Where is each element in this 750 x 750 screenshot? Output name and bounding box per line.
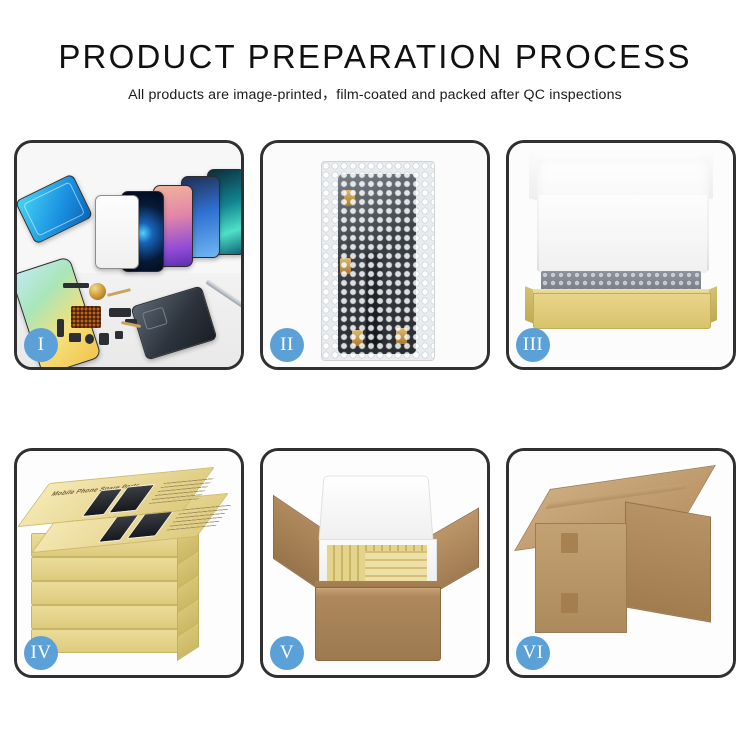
page-subtitle: All products are image-printed，film-coat…	[0, 84, 750, 104]
kraft-inner-box	[533, 293, 711, 329]
process-panel-grid: I II	[14, 140, 736, 678]
carton-tape-lower	[561, 593, 578, 613]
carton-tape-upper	[561, 533, 578, 553]
panel-badge-5: V	[270, 636, 304, 670]
process-panel-3[interactable]: III	[506, 140, 736, 370]
foam-lid	[318, 476, 433, 544]
panel-badge-1: I	[24, 328, 58, 362]
process-panel-4[interactable]: Mobile Phone Spare Parts Mobile Phone Sp…	[14, 448, 244, 678]
carton-side-face	[625, 501, 711, 622]
mesh-grid-part	[71, 306, 101, 328]
process-panel-1[interactable]: I	[14, 140, 244, 370]
panel-badge-3: III	[516, 328, 550, 362]
process-panel-2[interactable]: II	[260, 140, 490, 370]
foam-sheet-front	[539, 195, 707, 273]
panel-badge-2: II	[270, 328, 304, 362]
process-panel-6[interactable]: VI	[506, 448, 736, 678]
process-panel-5[interactable]: V	[260, 448, 490, 678]
bubble-wrap-bag	[321, 161, 435, 361]
panel-badge-4: IV	[24, 636, 58, 670]
page-header: PRODUCT PREPARATION PROCESS All products…	[0, 0, 750, 104]
packed-yellow-boxes-second	[365, 551, 427, 583]
screen-flex-cable	[366, 252, 382, 348]
carton-body	[315, 587, 441, 661]
page-title: PRODUCT PREPARATION PROCESS	[0, 40, 750, 75]
speaker-coil-part	[89, 283, 106, 300]
carton-front-face	[535, 523, 627, 633]
panel-badge-6: VI	[516, 636, 550, 670]
tempered-glass-film	[95, 195, 139, 269]
